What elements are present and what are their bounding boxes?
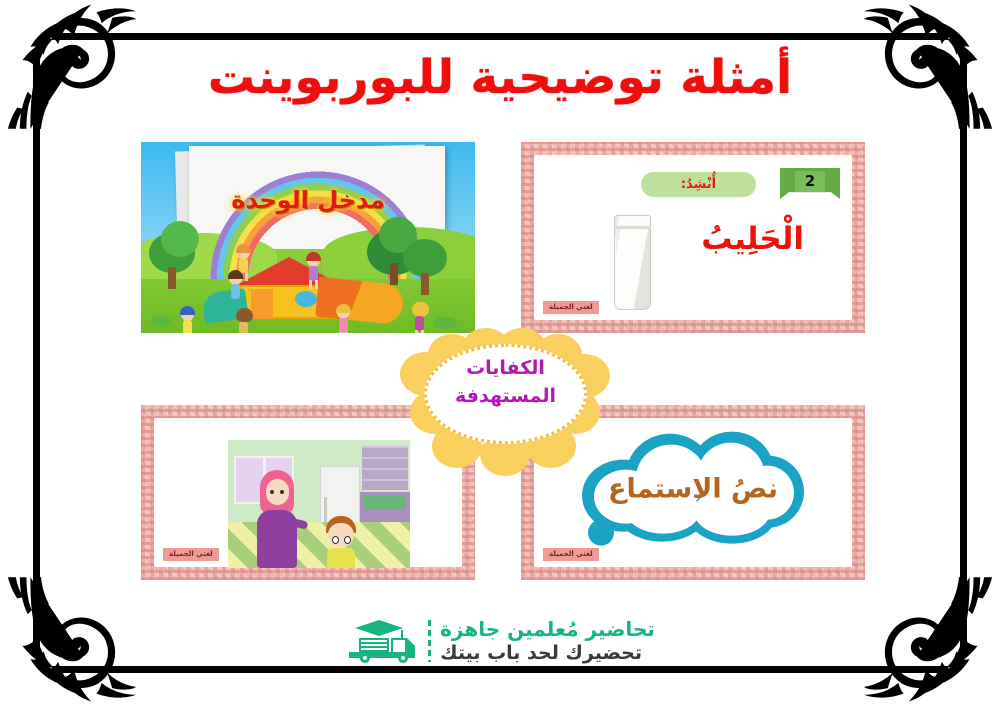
unit-entry-heading: مدخل الوحدة xyxy=(141,186,475,214)
tree-far-right xyxy=(403,239,447,277)
lesson-number-badge: 2 xyxy=(780,168,840,199)
milk-word-text: الْحَلِيبُ xyxy=(701,221,804,257)
child-bat xyxy=(181,308,194,321)
poster-page: أمثلة توضيحية للبوربوينت xyxy=(0,0,1000,706)
card-unit-entry[interactable]: مدخل الوحدة xyxy=(141,142,475,333)
speech-cloud-icon: نصُ الاستماع xyxy=(582,431,804,549)
card-milk[interactable]: أُنْشِدُ: 2 الْحَلِيبُ لغتي الجميلة xyxy=(521,142,865,333)
tree-left xyxy=(149,233,195,273)
language-tag: لغتي الجميلة xyxy=(543,301,599,314)
language-tag: لغتي الجميلة xyxy=(163,548,219,561)
center-badge-line1: الكفايات xyxy=(398,355,613,383)
child-running xyxy=(237,310,250,323)
language-tag: لغتي الجميلة xyxy=(543,548,599,561)
card-milk-inner: أُنْشِدُ: 2 الْحَلِيبُ لغتي الجميلة xyxy=(534,155,852,320)
delivery-truck-graduation-cap-icon xyxy=(345,618,419,664)
child-on-top xyxy=(237,246,250,259)
center-badge-line2: المستهدفة xyxy=(398,383,613,411)
child-climbing xyxy=(307,254,320,267)
flower-sunburst-icon: الكفايات المستهدفة xyxy=(398,328,613,480)
logo-divider xyxy=(428,620,431,662)
center-badge-text: الكفايات المستهدفة xyxy=(398,355,613,410)
child-in-house xyxy=(229,272,242,285)
logo-line2: تحضيرك لحد باب بيتك xyxy=(440,642,642,664)
mother-figure xyxy=(254,470,302,568)
footer-logo: تحاضير مُعلمين جاهزة تحضيرك لحد باب بيتك xyxy=(0,618,1000,664)
bush-1 xyxy=(151,316,171,327)
page-title: أمثلة توضيحية للبوربوينت xyxy=(0,52,1000,104)
frame-right-line xyxy=(960,52,967,654)
lesson-number-text: 2 xyxy=(805,172,815,190)
logo-line1: تحاضير مُعلمين جاهزة xyxy=(440,618,655,642)
glass-of-milk-icon xyxy=(614,215,651,310)
anshid-pill-label: أُنْشِدُ: xyxy=(641,172,756,197)
frame-left-line xyxy=(33,52,40,654)
logo-text-block: تحاضير مُعلمين جاهزة تحضيرك لحد باب بيتك xyxy=(440,618,655,664)
child-sliding xyxy=(337,306,350,319)
child-waving xyxy=(413,304,426,317)
boy-figure xyxy=(324,516,358,568)
frame-top-line xyxy=(52,33,948,40)
listening-text: نصُ الاستماع xyxy=(582,473,804,504)
mother-and-boy-in-kitchen-illustration xyxy=(228,440,410,568)
frame-bottom-line xyxy=(52,666,948,673)
